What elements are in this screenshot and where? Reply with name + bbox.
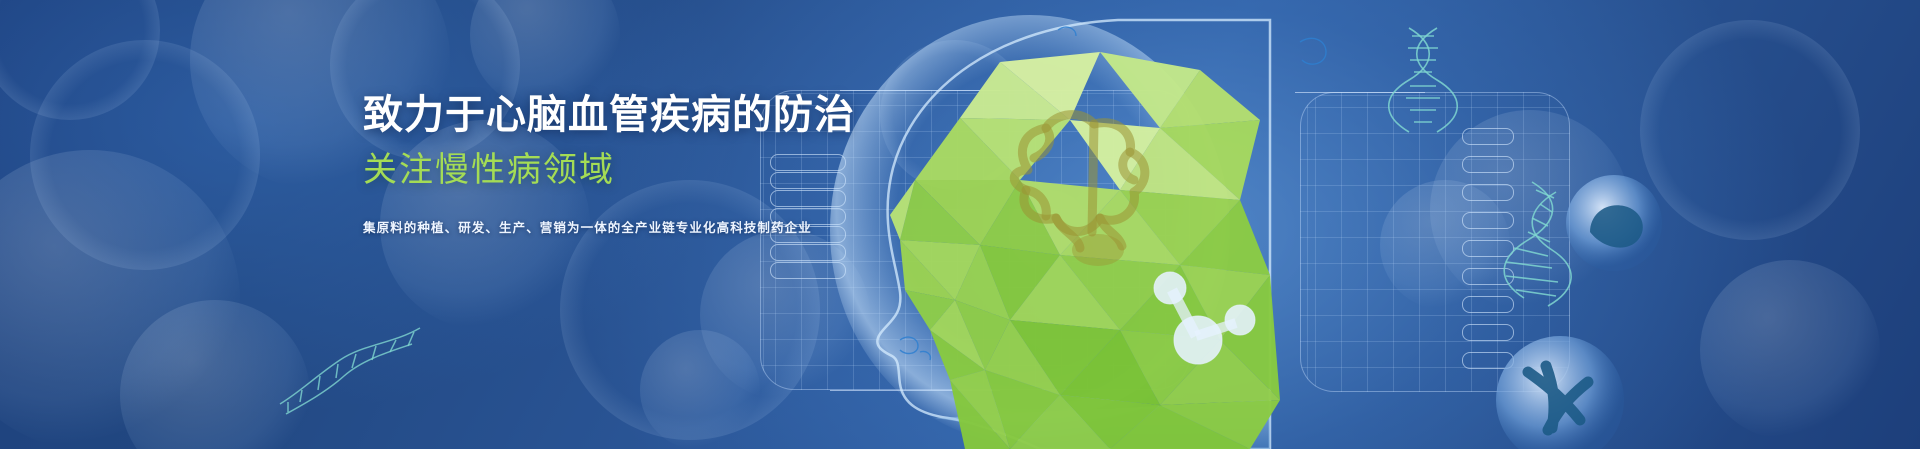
dna-helix-bottom-left bbox=[280, 328, 420, 414]
dna-helix-right bbox=[1504, 182, 1571, 306]
cell-bottom-right bbox=[1496, 336, 1624, 449]
brain-stem bbox=[1072, 234, 1124, 266]
banner-subline: 关注慢性病领域 bbox=[363, 151, 1063, 190]
hero-banner: 致力于心脑血管疾病的防治 关注慢性病领域 集原料的种植、研发、生产、营销为一体的… bbox=[0, 0, 1920, 449]
cell-top-right bbox=[1566, 175, 1662, 271]
banner-copy: 致力于心脑血管疾病的防治 关注慢性病领域 集原料的种植、研发、生产、营销为一体的… bbox=[363, 93, 1063, 237]
banner-tagline: 集原料的种植、研发、生产、营销为一体的全产业链专业化高科技制药企业 bbox=[363, 220, 1063, 238]
dna-helix-top-right bbox=[1389, 28, 1458, 132]
banner-headline: 致力于心脑血管疾病的防治 bbox=[363, 93, 1063, 138]
